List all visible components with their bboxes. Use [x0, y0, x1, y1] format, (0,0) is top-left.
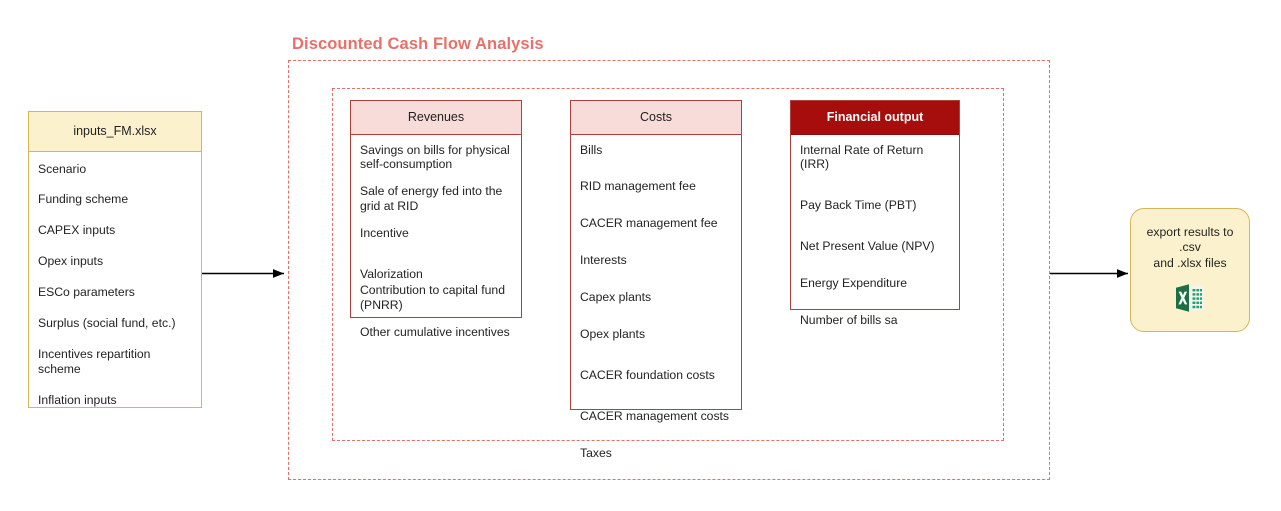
list-item: Valorization: [360, 267, 512, 282]
list-item: CACER management fee: [580, 216, 732, 231]
costs-list: Bills RID management fee CACER managemen…: [571, 135, 741, 469]
export-results-line-1: export results to .csv: [1147, 225, 1234, 254]
list-item: Interests: [580, 253, 732, 268]
inputs-file-list: Scenario Funding scheme CAPEX inputs Ope…: [29, 152, 201, 432]
revenues-list: Savings on bills for physical self-consu…: [351, 135, 521, 348]
list-item: CACER management costs: [580, 409, 732, 424]
list-item: CAPEX inputs: [38, 223, 192, 238]
list-item: Opex plants: [580, 327, 732, 342]
diagram-title: Discounted Cash Flow Analysis: [292, 35, 544, 54]
export-results-node[interactable]: export results to .csv and .xlsx files: [1130, 208, 1250, 332]
list-item: Funding scheme: [38, 192, 192, 207]
arrow-inputs-to-dcf: [200, 262, 294, 286]
list-item: Bills: [580, 143, 732, 158]
costs-title: Costs: [571, 101, 741, 135]
list-item: Pay Back Time (PBT): [800, 198, 950, 213]
list-item: Contribution to capital fund (PNRR): [360, 283, 512, 313]
financial-output-title: Financial output: [791, 101, 959, 135]
list-item: ESCo parameters: [38, 285, 192, 300]
list-item: Internal Rate of Return (IRR): [800, 143, 950, 173]
list-item: Inflation inputs: [38, 393, 192, 408]
arrow-dcf-to-export: [1048, 262, 1138, 286]
inputs-file-node[interactable]: inputs_FM.xlsx Scenario Funding scheme C…: [28, 111, 202, 408]
list-item: Taxes: [580, 446, 732, 461]
financial-output-list: Internal Rate of Return (IRR) Pay Back T…: [791, 135, 959, 336]
list-item: Savings on bills for physical self-consu…: [360, 143, 512, 173]
inputs-file-title: inputs_FM.xlsx: [29, 112, 201, 152]
list-item: Incentives repartition scheme: [38, 347, 192, 377]
list-item: Surplus (social fund, etc.): [38, 316, 192, 331]
revenues-node[interactable]: Revenues Savings on bills for physical s…: [350, 100, 522, 318]
list-item: Net Present Value (NPV): [800, 239, 950, 254]
list-item: RID management fee: [580, 179, 732, 194]
costs-node[interactable]: Costs Bills RID management fee CACER man…: [570, 100, 742, 410]
list-item: Opex inputs: [38, 254, 192, 269]
list-item: Other cumulative incentives: [360, 325, 512, 340]
export-results-line-2: and .xlsx files: [1153, 256, 1226, 270]
diagram-canvas: Discounted Cash Flow Analysis inputs_FM.…: [0, 0, 1281, 511]
list-item: Number of bills sa: [800, 313, 950, 328]
list-item: Sale of energy fed into the grid at RID: [360, 184, 512, 214]
export-results-label: export results to .csv and .xlsx files: [1137, 225, 1243, 271]
financial-output-node[interactable]: Financial output Internal Rate of Return…: [790, 100, 960, 310]
list-item: Scenario: [38, 162, 192, 177]
list-item: Capex plants: [580, 290, 732, 305]
excel-icon: [1173, 281, 1207, 315]
revenues-title: Revenues: [351, 101, 521, 135]
list-item: Incentive: [360, 226, 512, 241]
list-item: CACER foundation costs: [580, 368, 732, 383]
list-item: Energy Expenditure: [800, 276, 950, 291]
